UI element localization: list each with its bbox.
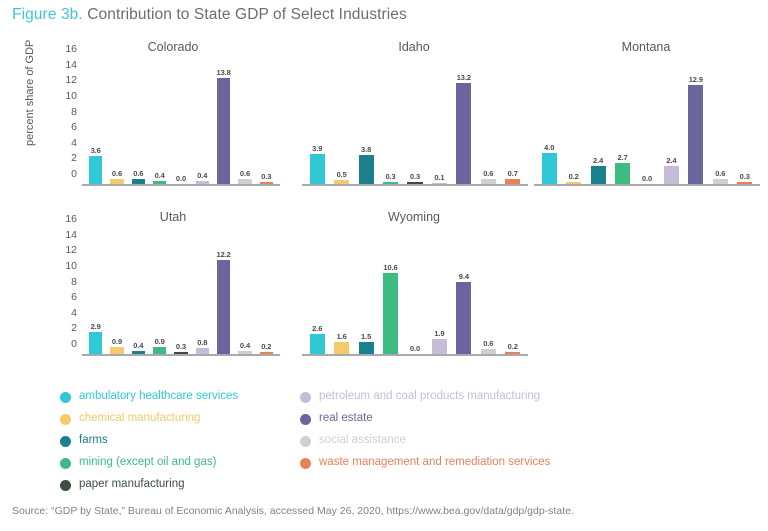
legend-color-dot-icon <box>60 436 71 447</box>
bar-value-label: 13.8 <box>217 69 231 77</box>
bar-value-label: 0.3 <box>176 343 186 351</box>
bar <box>359 342 374 354</box>
bar <box>542 153 557 184</box>
bar <box>359 155 374 184</box>
bar-slot: 0.0 <box>170 61 191 184</box>
y-axis-tick-label: 8 <box>71 276 77 288</box>
y-axis-tick-label: 16 <box>65 43 77 55</box>
y-axis-tick-label: 12 <box>65 74 77 86</box>
bar <box>432 339 447 354</box>
bar-value-label: 0.2 <box>569 173 579 181</box>
x-axis-line <box>302 354 528 356</box>
legend-label: paper manufacturing <box>79 479 184 491</box>
bar-slot: 0.1 <box>427 61 451 184</box>
bar-slot: 0.3 <box>378 61 402 184</box>
legend-color-dot-icon <box>60 458 71 469</box>
bar-value-label: 0.9 <box>155 338 165 346</box>
bar <box>238 351 251 354</box>
bar-value-label: 0.3 <box>740 173 750 181</box>
bar <box>132 351 145 354</box>
legend-label: ambulatory healthcare services <box>79 391 238 403</box>
bar-slot: 0.6 <box>476 61 500 184</box>
legend-color-dot-icon <box>300 436 311 447</box>
bar <box>196 181 209 184</box>
bar-slot: 0.4 <box>192 61 213 184</box>
legend-item[interactable]: paper manufacturing <box>60 474 238 496</box>
bar-slot: 0.6 <box>128 61 149 184</box>
legend-label: chemical manufacturing <box>79 413 200 425</box>
bar-value-label: 0.6 <box>133 170 143 178</box>
y-axis-tick-label: 0 <box>71 168 77 180</box>
y-axis-tick-label: 0 <box>71 338 77 350</box>
bar <box>334 180 349 184</box>
bar-value-label: 1.5 <box>361 333 371 341</box>
bar <box>89 156 102 184</box>
chart-panel-montana: Montana 4.00.22.42.70.02.412.90.60.3 <box>530 36 762 196</box>
bar <box>110 347 123 354</box>
x-axis-line <box>82 184 280 186</box>
bar-slot: 0.9 <box>149 231 170 354</box>
bar-slot: 0.0 <box>635 61 659 184</box>
bar-value-label: 10.6 <box>383 264 397 272</box>
legend-item[interactable]: waste management and remediation service… <box>300 452 550 474</box>
bar-slot: 9.4 <box>452 231 476 354</box>
bar <box>688 85 703 184</box>
panel-title: Montana <box>530 40 762 54</box>
bar <box>238 179 251 184</box>
legend-label: mining (except oil and gas) <box>79 457 216 469</box>
legend-item[interactable]: real estate <box>300 408 550 430</box>
bar-slot: 3.9 <box>305 61 329 184</box>
x-axis-line <box>82 354 280 356</box>
bar-slot: 2.6 <box>305 231 329 354</box>
y-axis-tick-label: 2 <box>71 322 77 334</box>
legend-item[interactable]: petroleum and coal products manufacturin… <box>300 386 550 408</box>
bar <box>737 182 752 184</box>
legend-item[interactable]: chemical manufacturing <box>60 408 238 430</box>
legend-color-dot-icon <box>60 480 71 491</box>
bar-value-label: 2.7 <box>617 154 627 162</box>
bar-slot: 1.5 <box>354 231 378 354</box>
bar-slot: 1.6 <box>329 231 353 354</box>
bar-slot: 0.4 <box>234 231 255 354</box>
bar-value-label: 0.3 <box>385 173 395 181</box>
bar-value-label: 12.9 <box>689 76 703 84</box>
y-axis-tick-label: 10 <box>65 90 77 102</box>
bar <box>383 273 398 354</box>
panel-title: Utah <box>50 210 282 224</box>
chart-legend: ambulatory healthcare serviceschemical m… <box>60 386 760 491</box>
y-axis-tick-label: 4 <box>71 307 77 319</box>
plot-area: 1614121086420 2.90.90.40.90.30.812.20.40… <box>82 231 280 356</box>
bar <box>196 348 209 354</box>
chart-panel-grid: Colorado 1614121086420 3.60.60.60.40.00.… <box>0 36 768 381</box>
bar-slot: 0.2 <box>501 231 525 354</box>
bar-slot: 0.5 <box>329 61 353 184</box>
bar <box>566 182 581 184</box>
bar-value-label: 2.4 <box>593 157 603 165</box>
figure-title: Figure 3b. Contribution to State GDP of … <box>12 6 407 24</box>
bar <box>432 183 447 184</box>
bar-value-label: 0.6 <box>240 170 250 178</box>
bar <box>407 182 422 184</box>
legend-label: farms <box>79 435 108 447</box>
bar-value-label: 2.9 <box>91 323 101 331</box>
bar-value-label: 0.1 <box>434 174 444 182</box>
bar-slot: 12.9 <box>684 61 708 184</box>
bar <box>481 179 496 184</box>
bar-group: 3.60.60.60.40.00.413.80.60.3 <box>85 61 277 184</box>
legend-column-right: petroleum and coal products manufacturin… <box>300 386 550 474</box>
bar <box>260 182 273 184</box>
bar-slot: 1.9 <box>427 231 451 354</box>
chart-panel-utah: Utah 1614121086420 2.90.90.40.90.30.812.… <box>50 206 282 366</box>
bar-slot: 0.3 <box>256 61 277 184</box>
bar-slot: 4.0 <box>537 61 561 184</box>
bar-slot: 13.2 <box>452 61 476 184</box>
bar-group: 2.90.90.40.90.30.812.20.40.2 <box>85 231 277 354</box>
bar-slot: 0.3 <box>403 61 427 184</box>
chart-panel-wyoming: Wyoming 2.61.61.510.60.01.99.40.60.2 <box>298 206 530 366</box>
bar <box>310 154 325 184</box>
plot-area: 2.61.61.510.60.01.99.40.60.2 <box>302 231 528 356</box>
figure-number: Figure 3b. <box>12 6 83 23</box>
bar-value-label: 0.0 <box>642 175 652 183</box>
chart-panel-idaho: Idaho 3.90.53.80.30.30.113.20.60.7 <box>298 36 530 196</box>
bar-value-label: 0.4 <box>240 342 250 350</box>
bar-value-label: 0.2 <box>508 343 518 351</box>
legend-item[interactable]: mining (except oil and gas) <box>60 452 238 474</box>
bar-value-label: 12.2 <box>217 251 231 259</box>
bar-value-label: 0.7 <box>508 170 518 178</box>
bar <box>89 332 102 354</box>
legend-color-dot-icon <box>300 392 311 403</box>
bar-value-label: 0.4 <box>155 172 165 180</box>
x-axis-line <box>302 184 528 186</box>
y-axis-tick-label: 14 <box>65 229 77 241</box>
legend-color-dot-icon <box>60 392 71 403</box>
bar-slot: 0.6 <box>234 61 255 184</box>
chart-panel-colorado: Colorado 1614121086420 3.60.60.60.40.00.… <box>50 36 282 196</box>
bar-value-label: 3.9 <box>312 145 322 153</box>
bar-value-label: 0.6 <box>112 170 122 178</box>
bar-slot: 0.3 <box>733 61 757 184</box>
legend-label: social assistance <box>319 435 406 447</box>
figure-title-text: Contribution to State GDP of Select Indu… <box>87 6 407 23</box>
bar-slot: 3.6 <box>85 61 106 184</box>
bar <box>260 352 273 354</box>
bar-group: 2.61.61.510.60.01.99.40.60.2 <box>305 231 525 354</box>
bar-value-label: 0.6 <box>483 340 493 348</box>
bar-value-label: 4.0 <box>544 144 554 152</box>
bar-slot: 2.9 <box>85 231 106 354</box>
bar <box>334 342 349 354</box>
y-axis-tick-label: 14 <box>65 59 77 71</box>
bar-value-label: 2.6 <box>312 325 322 333</box>
bar-value-label: 3.6 <box>91 147 101 155</box>
bar-value-label: 0.3 <box>410 173 420 181</box>
y-axis-tick-label: 12 <box>65 244 77 256</box>
legend-color-dot-icon <box>60 414 71 425</box>
bar <box>456 282 471 354</box>
bar-slot: 0.7 <box>501 61 525 184</box>
bar-slot: 0.0 <box>403 231 427 354</box>
y-axis-tick-label: 6 <box>71 291 77 303</box>
bar-value-label: 0.3 <box>261 173 271 181</box>
y-axis-tick-label: 6 <box>71 121 77 133</box>
legend-item[interactable]: social assistance <box>300 430 550 452</box>
bar-value-label: 0.2 <box>261 343 271 351</box>
bar-slot: 2.7 <box>610 61 634 184</box>
y-axis-tick-label: 2 <box>71 152 77 164</box>
bar-slot: 0.6 <box>106 61 127 184</box>
bar-value-label: 9.4 <box>459 273 469 281</box>
bar <box>383 182 398 184</box>
panel-title: Wyoming <box>298 210 530 224</box>
bar-value-label: 0.4 <box>133 342 143 350</box>
bar-value-label: 13.2 <box>457 74 471 82</box>
bar-value-label: 0.8 <box>197 339 207 347</box>
bar <box>153 181 166 184</box>
bar-value-label: 2.4 <box>666 157 676 165</box>
legend-label: petroleum and coal products manufacturin… <box>319 391 540 403</box>
bar <box>456 83 471 184</box>
bar-slot: 2.4 <box>586 61 610 184</box>
bar <box>505 179 520 184</box>
legend-item[interactable]: farms <box>60 430 238 452</box>
panel-title: Idaho <box>298 40 530 54</box>
bar-slot: 0.3 <box>170 231 191 354</box>
bar-slot: 0.8 <box>192 231 213 354</box>
bar <box>110 179 123 184</box>
bar-value-label: 0.6 <box>715 170 725 178</box>
bar-slot: 2.4 <box>659 61 683 184</box>
bar-value-label: 3.8 <box>361 146 371 154</box>
bar <box>664 166 679 184</box>
y-axis-tick-label: 4 <box>71 137 77 149</box>
bar-value-label: 0.9 <box>112 338 122 346</box>
legend-label: real estate <box>319 413 373 425</box>
legend-label: waste management and remediation service… <box>319 457 550 469</box>
bar <box>481 349 496 354</box>
plot-area: 1614121086420 3.60.60.60.40.00.413.80.60… <box>82 61 280 186</box>
y-axis-tick-label: 8 <box>71 106 77 118</box>
legend-color-dot-icon <box>300 414 311 425</box>
legend-item[interactable]: ambulatory healthcare services <box>60 386 238 408</box>
panel-title: Colorado <box>50 40 282 54</box>
bar-slot: 0.9 <box>106 231 127 354</box>
bar <box>132 179 145 184</box>
y-axis-tick-label: 16 <box>65 213 77 225</box>
legend-color-dot-icon <box>300 458 311 469</box>
bar-slot: 0.4 <box>149 61 170 184</box>
bar <box>310 334 325 354</box>
bar-slot: 0.6 <box>476 231 500 354</box>
bar-value-label: 0.0 <box>176 175 186 183</box>
bar-value-label: 0.6 <box>483 170 493 178</box>
bar <box>174 352 187 354</box>
bar-slot: 12.2 <box>213 231 234 354</box>
bar-slot: 10.6 <box>378 231 402 354</box>
plot-area: 3.90.53.80.30.30.113.20.60.7 <box>302 61 528 186</box>
plot-area: 4.00.22.42.70.02.412.90.60.3 <box>534 61 760 186</box>
y-axis-tick-label: 10 <box>65 260 77 272</box>
bar-slot: 0.2 <box>561 61 585 184</box>
bar-group: 4.00.22.42.70.02.412.90.60.3 <box>537 61 757 184</box>
bar <box>153 347 166 354</box>
bar-value-label: 0.4 <box>197 172 207 180</box>
bar-value-label: 1.9 <box>434 330 444 338</box>
bar <box>713 179 728 184</box>
bar-slot: 0.4 <box>128 231 149 354</box>
bar <box>615 163 630 184</box>
bar-slot: 13.8 <box>213 61 234 184</box>
bar <box>591 166 606 184</box>
bar-slot: 0.2 <box>256 231 277 354</box>
bar-value-label: 0.0 <box>410 345 420 353</box>
bar-slot: 0.6 <box>708 61 732 184</box>
bar <box>217 260 230 354</box>
legend-column-left: ambulatory healthcare serviceschemical m… <box>60 386 238 496</box>
bar-value-label: 1.6 <box>337 333 347 341</box>
bar <box>217 78 230 184</box>
bar-value-label: 0.5 <box>337 171 347 179</box>
bar-group: 3.90.53.80.30.30.113.20.60.7 <box>305 61 525 184</box>
x-axis-line <box>534 184 760 186</box>
bar <box>505 352 520 354</box>
bar-slot: 3.8 <box>354 61 378 184</box>
source-note: Source: “GDP by State,” Bureau of Econom… <box>12 505 574 517</box>
